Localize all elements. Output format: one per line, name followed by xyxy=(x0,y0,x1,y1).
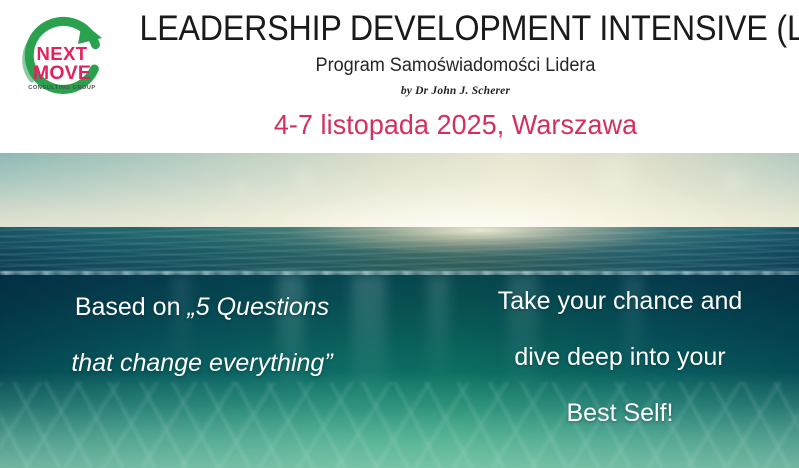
author-credit: by Dr John J. Scherer xyxy=(112,83,799,99)
hero-ocean-image: Based on „5 Questions that change everyt… xyxy=(0,153,799,468)
next-move-logo: NEXT MOVE CONSULTING GROUP xyxy=(8,8,116,104)
hero-tagline-left: Based on „5 Questions that change everyt… xyxy=(22,279,382,391)
page-title: LEADERSHIP DEVELOPMENT INTENSIVE (LDI) xyxy=(139,8,771,50)
hero-tagline-right: Take your chance and dive deep into your… xyxy=(452,273,788,441)
page-subtitle: Program Samoświadomości Lidera xyxy=(129,52,782,80)
event-poster: NEXT MOVE CONSULTING GROUP LEADERSHIP DE… xyxy=(0,0,799,468)
hero-right-line2: dive deep into your xyxy=(452,329,788,385)
hero-left-line1-prefix: Based on xyxy=(75,293,188,321)
logo-name-line2: MOVE xyxy=(33,62,91,84)
circular-arrow-icon: NEXT MOVE CONSULTING GROUP xyxy=(8,8,116,104)
poster-header: NEXT MOVE CONSULTING GROUP LEADERSHIP DE… xyxy=(0,0,799,153)
title-block: LEADERSHIP DEVELOPMENT INTENSIVE (LDI) P… xyxy=(112,8,799,99)
event-date-location: 4-7 listopada 2025, Warszawa xyxy=(126,108,786,142)
hero-left-line1-quoted: „5 Questions xyxy=(187,293,329,321)
hero-right-line1: Take your chance and xyxy=(452,273,788,329)
hero-right-line3: Best Self! xyxy=(452,385,788,441)
hero-left-line2: that change everything” xyxy=(22,335,382,391)
logo-tagline: CONSULTING GROUP xyxy=(28,85,95,91)
logo-name-line1: NEXT xyxy=(37,43,88,64)
